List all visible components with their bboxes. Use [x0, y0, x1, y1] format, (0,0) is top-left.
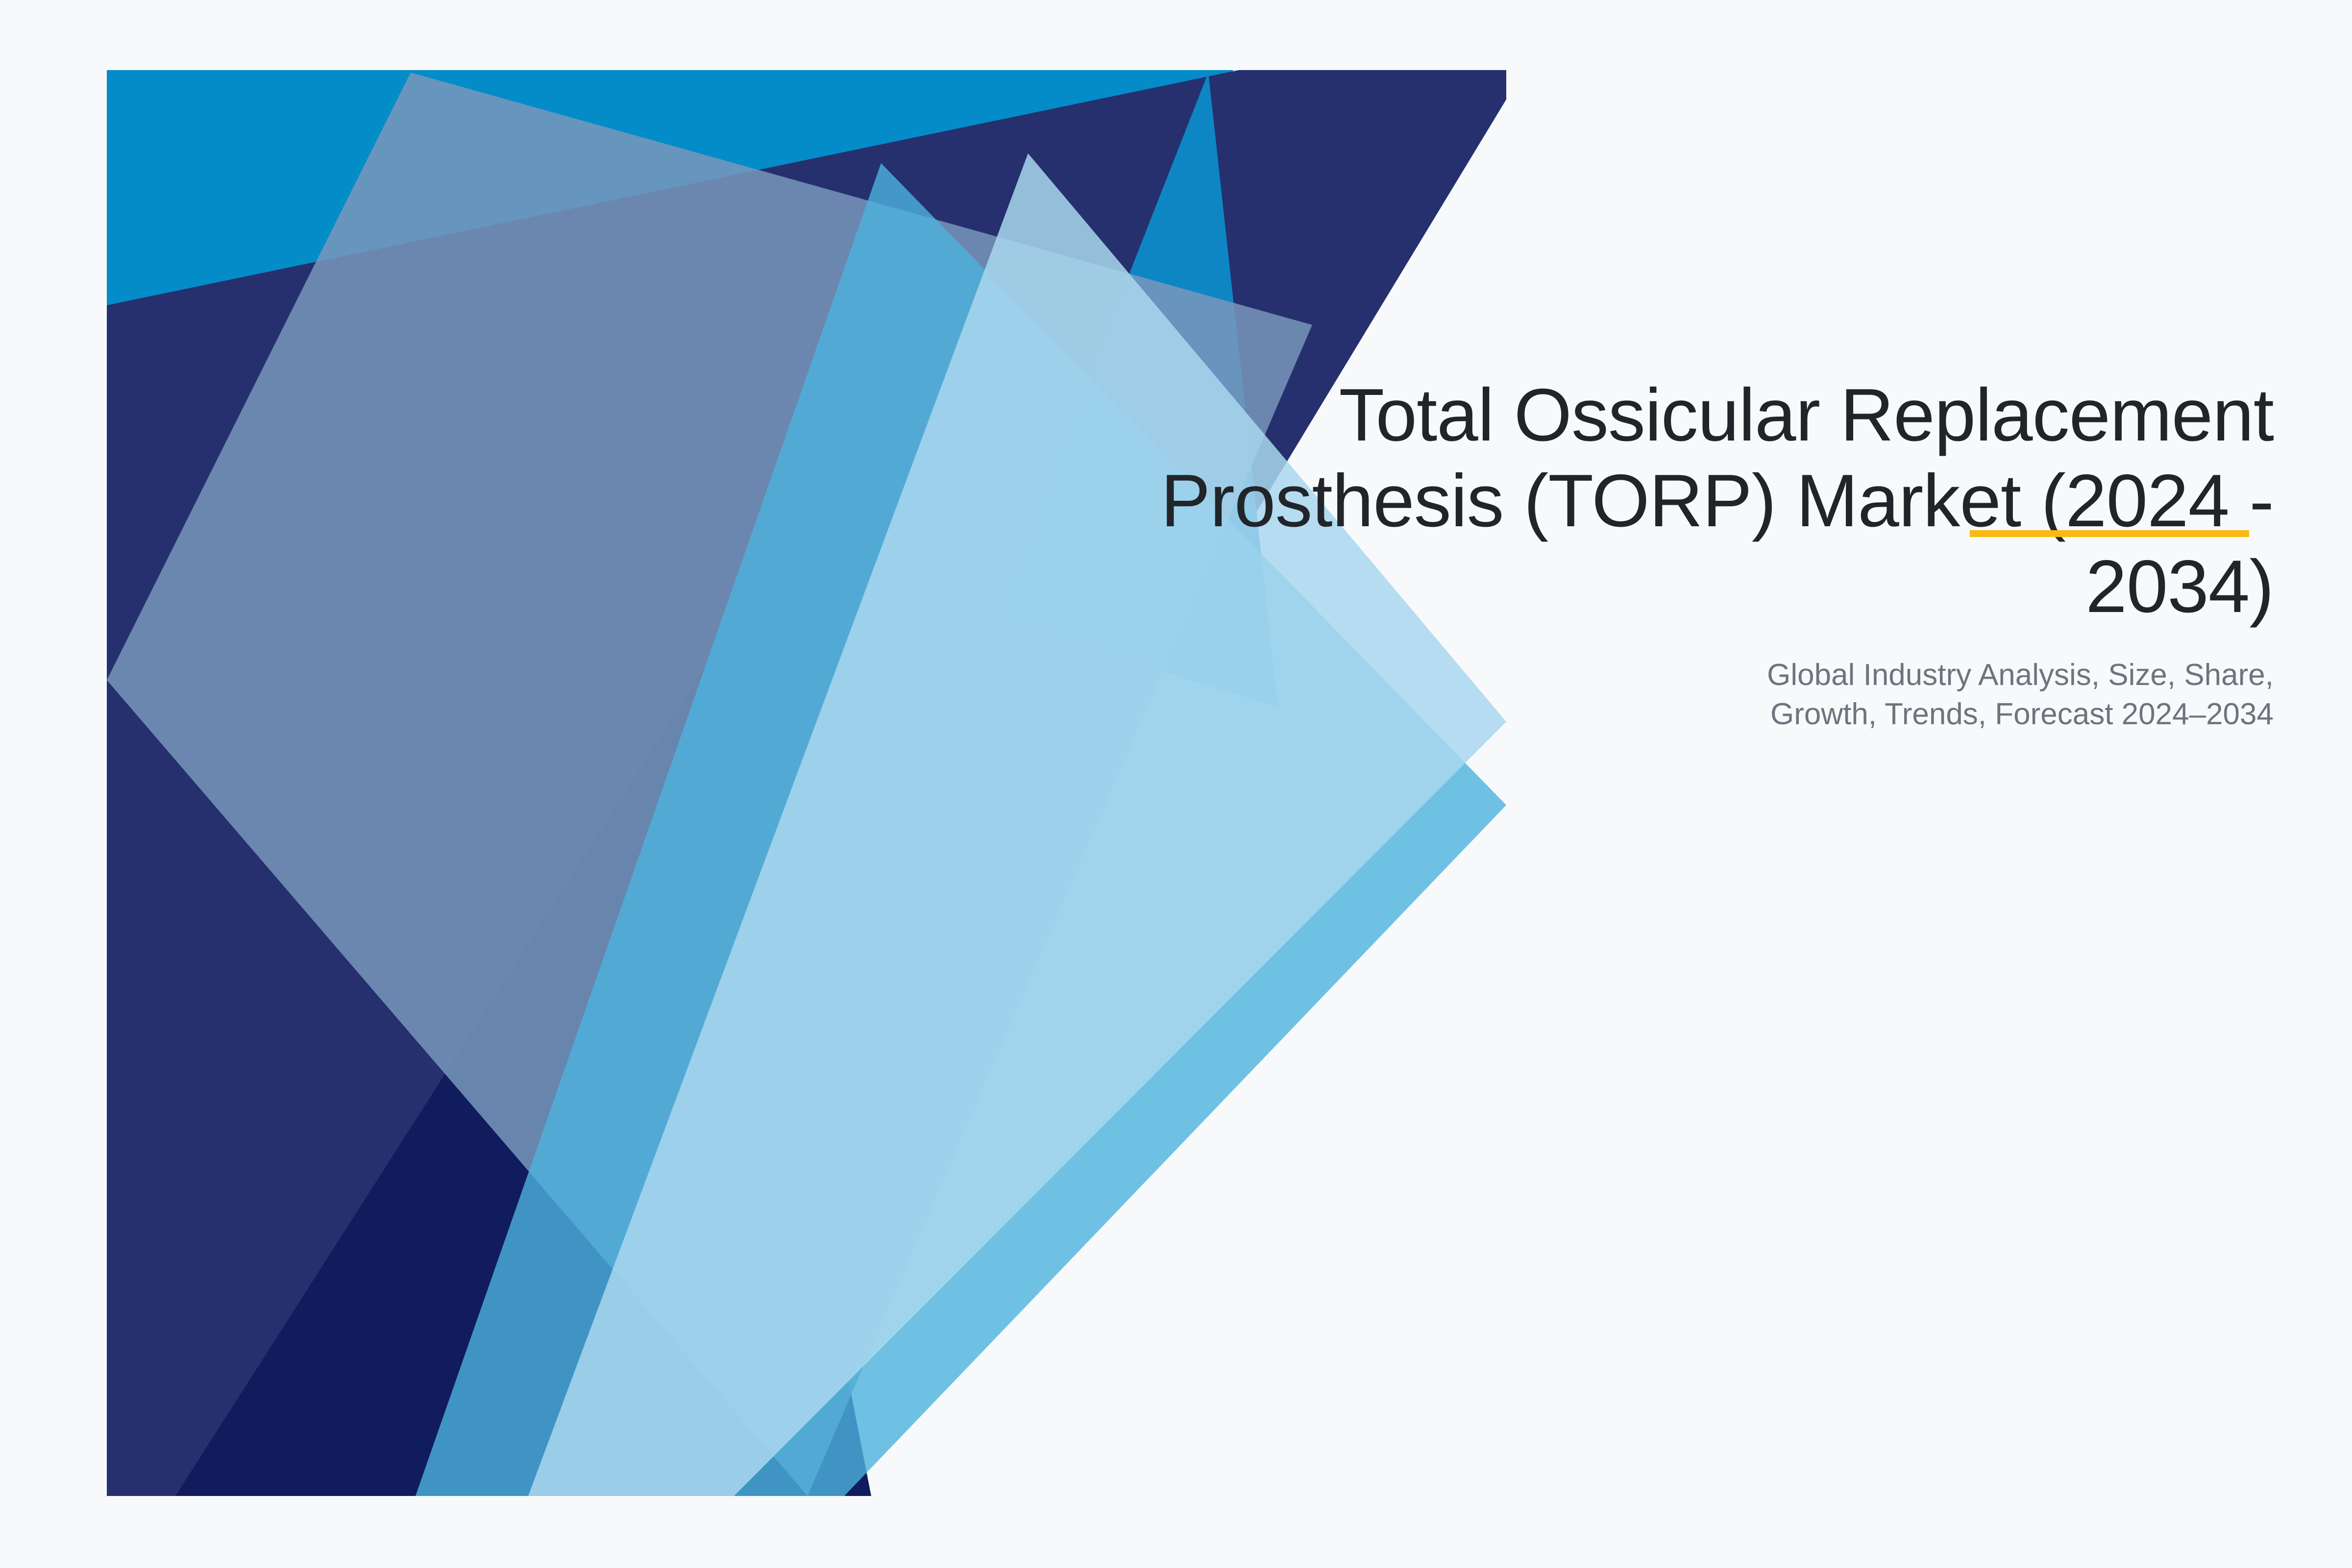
cover-text-block: Total Ossicular Replacement Prosthesis (… — [931, 372, 2274, 734]
slide-root: Total Ossicular Replacement Prosthesis (… — [0, 0, 2352, 1568]
title-accent-underline — [1970, 530, 2249, 537]
artwork-svg — [107, 70, 1506, 1496]
page-title: Total Ossicular Replacement Prosthesis (… — [931, 372, 2274, 629]
cover-artwork — [107, 70, 1506, 1496]
page-subtitle: Global Industry Analysis, Size, Share, G… — [931, 629, 2274, 734]
